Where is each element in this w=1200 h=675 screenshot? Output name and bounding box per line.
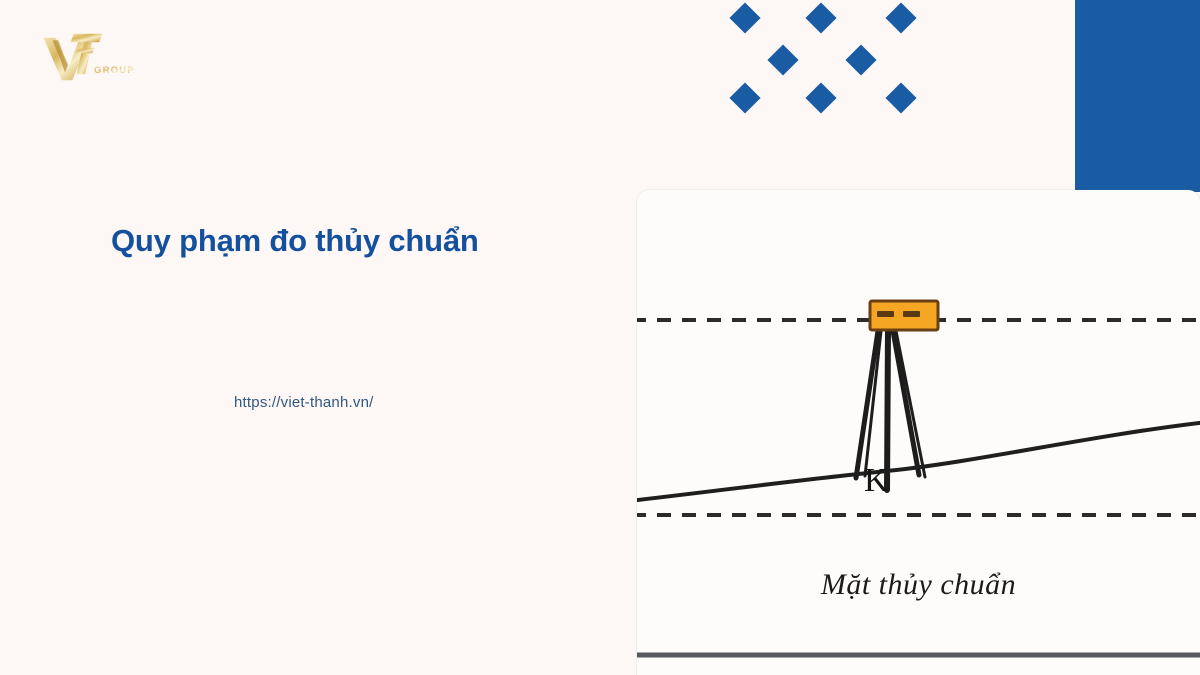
website-url[interactable]: https://viet-thanh.vn/ [234, 394, 373, 411]
vt-group-logo: GROUP [38, 28, 134, 84]
figure-caption: Mặt thủy chuẩn [637, 568, 1200, 602]
slide-canvas: GROUP Quy phạm đo thủy chuẩn https://vie… [0, 0, 1200, 675]
diamond-shape [729, 82, 760, 113]
diamond-shape [885, 82, 916, 113]
diamond-shape [805, 2, 836, 33]
diamond-shape [767, 44, 798, 75]
diamond-shape [805, 82, 836, 113]
diamond-shape [845, 44, 876, 75]
diamond-pattern-decoration [725, 0, 925, 120]
blue-accent-panel [1075, 0, 1200, 192]
level-instrument [870, 301, 938, 330]
page-title: Quy phạm đo thủy chuẩn [111, 222, 581, 261]
point-label-k: K [864, 462, 889, 500]
svg-text:GROUP: GROUP [94, 65, 134, 76]
diamond-shape [885, 2, 916, 33]
leveling-diagram-svg [637, 190, 1200, 675]
diamond-shape [729, 2, 760, 33]
figure-card: K Mặt thủy chuẩn [637, 190, 1200, 675]
